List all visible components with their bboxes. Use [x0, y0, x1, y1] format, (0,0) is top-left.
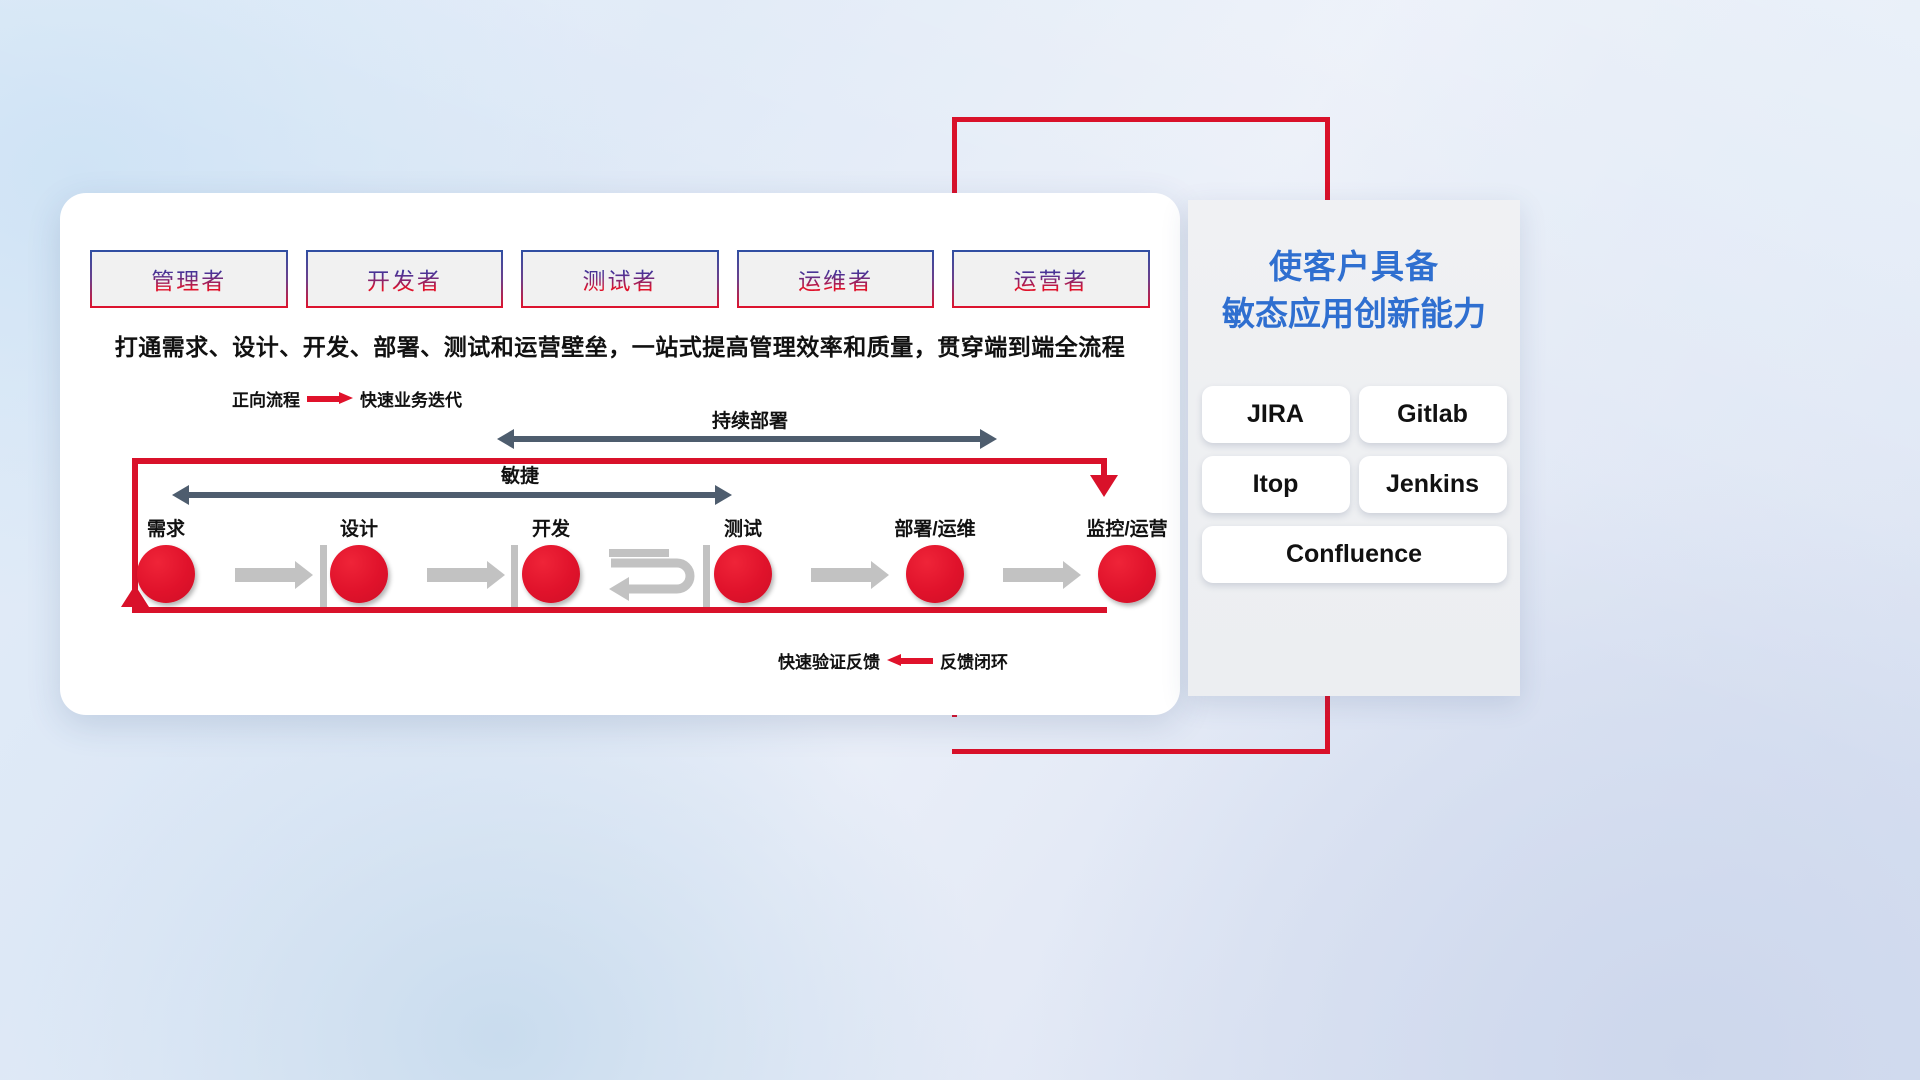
legend-feedback-right-label: 反馈闭环	[940, 648, 1008, 673]
role-label: 管理者	[151, 262, 226, 296]
pipeline-node-design[interactable]: 设计	[330, 545, 388, 603]
feedback-loop-arrowhead-down	[1090, 475, 1118, 497]
legend-forward-left-label: 正向流程	[232, 386, 300, 411]
pipeline-node-requirement[interactable]: 需求	[137, 545, 195, 603]
flow-arrow-icon-3	[811, 561, 889, 589]
tool-badge-jira[interactable]: JIRA	[1202, 386, 1350, 443]
arrow-left-icon	[887, 654, 933, 667]
bracket-top-line	[952, 117, 1330, 122]
tool-badge-gitlab[interactable]: Gitlab	[1359, 386, 1507, 443]
role-box-0[interactable]: 管理者	[90, 250, 288, 308]
pipeline-node-development[interactable]: 开发	[522, 545, 580, 603]
right-panel: 使客户具备 敏态应用创新能力 JIRA Gitlab Itop Jenkins …	[1188, 200, 1520, 696]
pipeline-node-label: 监控/运营	[1086, 514, 1167, 541]
panel-title-line-2: 敏态应用创新能力	[1222, 295, 1486, 332]
span-arrow-agile	[172, 485, 732, 505]
pipeline-node-label: 设计	[340, 514, 378, 541]
node-dot-icon	[137, 545, 195, 603]
flow-arrow-icon-1	[235, 561, 313, 589]
flow-arrow-icon-4	[1003, 561, 1081, 589]
tool-badge-confluence[interactable]: Confluence	[1202, 526, 1507, 583]
pipeline-node-label: 需求	[147, 514, 185, 541]
node-dot-icon	[330, 545, 388, 603]
legend-forward-right-label: 快速业务迭代	[360, 386, 462, 411]
tool-badge-jenkins[interactable]: Jenkins	[1359, 456, 1507, 513]
feedback-loop-top	[132, 458, 1107, 464]
role-label: 运维者	[798, 262, 873, 296]
role-label: 测试者	[582, 262, 657, 296]
role-box-row: 管理者 开发者 测试者 运维者 运营者	[90, 250, 1150, 308]
panel-title: 使客户具备 敏态应用创新能力	[1188, 200, 1520, 338]
legend-forward-flow: 正向流程 快速业务迭代	[232, 386, 462, 411]
main-card: 管理者 开发者 测试者 运维者 运营者 打通需求、设计、开发、部署、测试和运营壁…	[60, 193, 1180, 715]
role-box-2[interactable]: 测试者	[521, 250, 719, 308]
pipeline-node-monitor-operate[interactable]: 监控/运营	[1098, 545, 1156, 603]
role-label: 运营者	[1014, 262, 1089, 296]
panel-title-line-1: 使客户具备	[1269, 248, 1439, 285]
tagline-text: 打通需求、设计、开发、部署、测试和运营壁垒，一站式提高管理效率和质量，贯穿端到端…	[60, 328, 1180, 362]
loopback-arrow-icon	[607, 549, 707, 605]
arrow-right-icon	[307, 392, 353, 405]
pipeline-node-label: 部署/运维	[894, 514, 975, 541]
legend-feedback-left-label: 快速验证反馈	[778, 648, 880, 673]
role-label: 开发者	[367, 262, 442, 296]
flow-arrow-icon-2	[427, 561, 505, 589]
pipeline-node-deploy-ops[interactable]: 部署/运维	[906, 545, 964, 603]
node-dot-icon	[714, 545, 772, 603]
node-dot-icon	[906, 545, 964, 603]
node-dot-icon	[522, 545, 580, 603]
legend-feedback-loop: 快速验证反馈 反馈闭环	[778, 648, 1008, 673]
span-label-agile: 敏捷	[420, 461, 620, 488]
bracket-bottom-line	[952, 749, 1330, 754]
tool-badge-list: JIRA Gitlab Itop Jenkins Confluence	[1196, 386, 1512, 583]
pipeline: 需求 设计 开发 测试 部署/运	[98, 503, 1142, 623]
role-box-1[interactable]: 开发者	[306, 250, 504, 308]
role-box-3[interactable]: 运维者	[737, 250, 935, 308]
tool-badge-itop[interactable]: Itop	[1202, 456, 1350, 513]
pipeline-node-label: 测试	[724, 514, 762, 541]
node-dot-icon	[1098, 545, 1156, 603]
pipeline-node-label: 开发	[532, 514, 570, 541]
span-arrow-continuous-deployment	[497, 429, 997, 449]
pipeline-node-test[interactable]: 测试	[714, 545, 772, 603]
role-box-4[interactable]: 运营者	[952, 250, 1150, 308]
